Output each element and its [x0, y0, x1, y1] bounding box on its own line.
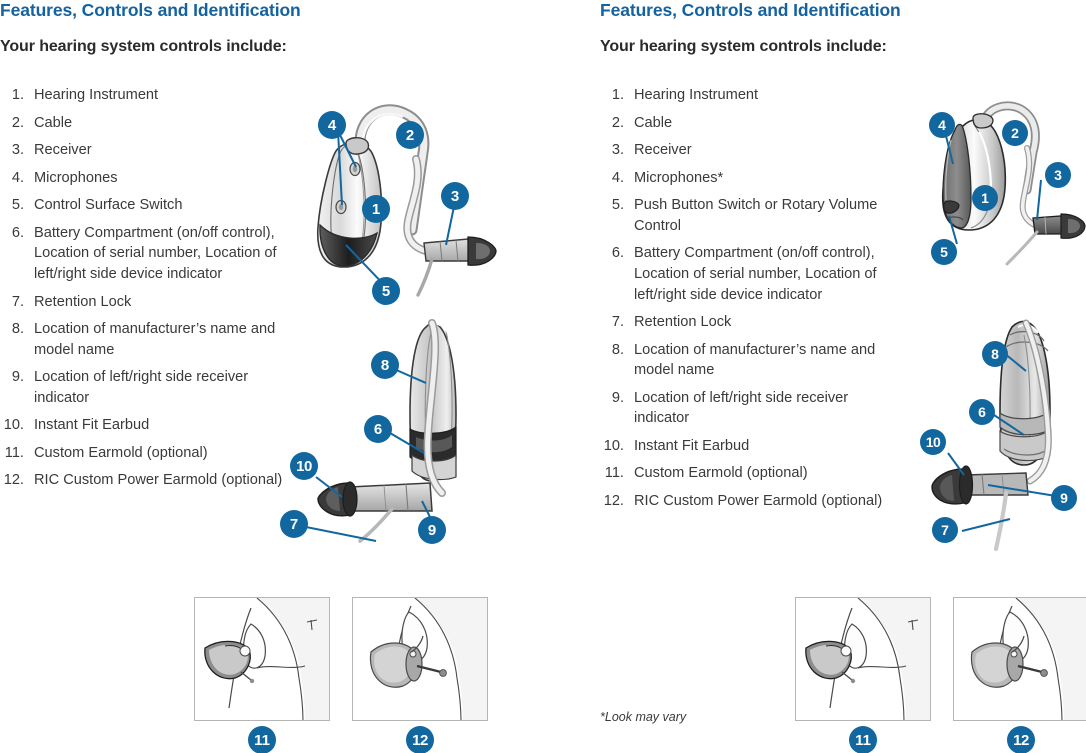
callout-badge-7[interactable]: 7	[280, 510, 308, 538]
list-item: 2.Cable	[0, 113, 290, 134]
callout-leader-lines	[280, 305, 530, 555]
list-item-number: 3.	[600, 140, 624, 161]
callout-badge-3[interactable]: 3	[1045, 162, 1071, 188]
list-item-number: 2.	[0, 113, 24, 134]
subtitle-right: Your hearing system controls include:	[600, 38, 887, 56]
callout-badge-4[interactable]: 4	[929, 112, 955, 138]
list-item: 11.Custom Earmold (optional)	[600, 463, 886, 484]
list-item-label: Hearing Instrument	[34, 87, 158, 103]
list-item-number: 1.	[0, 85, 24, 106]
list-item: 7.Retention Lock	[600, 312, 886, 333]
figure-bte-hearing-aid-right: 4 2 1 3 5	[915, 98, 1086, 270]
list-item: 9.Location of left/right side receiver i…	[600, 388, 886, 429]
callout-badge-7[interactable]: 7	[932, 517, 958, 543]
right-column: Features, Controls and Identification Yo…	[600, 0, 1086, 753]
list-item: 9.Location of left/right side receiver i…	[0, 367, 290, 408]
list-item-number: 3.	[0, 140, 24, 161]
list-item-number: 5.	[600, 195, 624, 216]
list-item-number: 5.	[0, 195, 24, 216]
list-item-label: Receiver	[634, 142, 692, 158]
list-item-label: Location of left/right side receiver ind…	[634, 390, 848, 427]
list-item-number: 9.	[600, 388, 624, 409]
list-item-label: Retention Lock	[634, 314, 731, 330]
list-item-label: Retention Lock	[34, 294, 131, 310]
list-item-label: Cable	[34, 115, 72, 131]
list-item: 3.Receiver	[0, 140, 290, 161]
list-item: 10.Instant Fit Earbud	[600, 436, 886, 457]
ear-with-power-earmold-illustration	[353, 598, 488, 721]
list-item-number: 11.	[600, 463, 624, 484]
list-item-number: 12.	[600, 491, 624, 512]
list-item-number: 11.	[0, 443, 24, 464]
callout-badge-1[interactable]: 1	[362, 195, 390, 223]
list-item-number: 2.	[600, 113, 624, 134]
list-item-label: RIC Custom Power Earmold (optional)	[634, 493, 882, 509]
photo-badge-11-left[interactable]: 11	[248, 726, 276, 753]
figure-ric-hearing-aid-left: 4 2 1 3 5	[300, 95, 543, 310]
list-item-number: 12.	[0, 470, 24, 491]
list-item-number: 8.	[0, 319, 24, 340]
list-item-label: Location of manufacturer’s name and mode…	[634, 342, 875, 379]
list-item: 4.Microphones*	[600, 168, 886, 189]
list-item-label: Hearing Instrument	[634, 87, 758, 103]
list-item-number: 8.	[600, 340, 624, 361]
page-title-right: Features, Controls and Identification	[600, 0, 901, 21]
list-item-number: 6.	[600, 243, 624, 264]
list-item-label: Microphones	[34, 170, 118, 186]
photo-custom-earmold-right	[795, 597, 931, 721]
list-item-label: Instant Fit Earbud	[34, 417, 149, 433]
callout-badge-2[interactable]: 2	[1002, 120, 1028, 146]
list-item-number: 7.	[600, 312, 624, 333]
list-item-number: 4.	[600, 168, 624, 189]
list-item: 7.Retention Lock	[0, 292, 290, 313]
photo-badge-12-right[interactable]: 12	[1007, 726, 1035, 753]
figure-side-view-earbud-left: 8 6 10 7 9	[280, 305, 530, 555]
list-item-number: 10.	[600, 436, 624, 457]
list-item-number: 9.	[0, 367, 24, 388]
features-list-right: 1.Hearing Instrument 2.Cable 3.Receiver …	[600, 85, 886, 519]
ear-with-custom-earmold-illustration	[796, 598, 931, 721]
list-item-label: Battery Compartment (on/off control), Lo…	[634, 245, 877, 302]
list-item-label: Instant Fit Earbud	[634, 438, 749, 454]
ear-with-custom-earmold-illustration	[195, 598, 330, 721]
list-item: 1.Hearing Instrument	[600, 85, 886, 106]
left-column: Features, Controls and Identification Yo…	[0, 0, 543, 753]
callout-badge-8[interactable]: 8	[982, 341, 1008, 367]
callout-badge-2[interactable]: 2	[396, 121, 424, 149]
callout-badge-5[interactable]: 5	[372, 277, 400, 305]
list-item: 8.Location of manufacturer’s name and mo…	[0, 319, 290, 360]
list-item-label: Cable	[634, 115, 672, 131]
photo-badge-12-left[interactable]: 12	[406, 726, 434, 753]
ear-with-power-earmold-illustration	[954, 598, 1086, 721]
list-item-label: RIC Custom Power Earmold (optional)	[34, 472, 282, 488]
list-item: 6.Battery Compartment (on/off control), …	[0, 223, 290, 285]
list-item: 1.Hearing Instrument	[0, 85, 290, 106]
list-item-number: 4.	[0, 168, 24, 189]
list-item-label: Location of manufacturer’s name and mode…	[34, 321, 275, 358]
list-item-number: 1.	[600, 85, 624, 106]
page-title-left: Features, Controls and Identification	[0, 0, 301, 21]
list-item: 5.Control Surface Switch	[0, 195, 290, 216]
list-item: 12.RIC Custom Power Earmold (optional)	[600, 491, 886, 512]
callout-badge-6[interactable]: 6	[364, 415, 392, 443]
callout-badge-9[interactable]: 9	[1051, 485, 1077, 511]
photo-badge-11-right[interactable]: 11	[849, 726, 877, 753]
figure-side-view-earbud-right: 8 6 10 9 7	[900, 305, 1086, 550]
list-item-number: 7.	[0, 292, 24, 313]
list-item: 10.Instant Fit Earbud	[0, 415, 290, 436]
list-item-label: Battery Compartment (on/off control), Lo…	[34, 225, 277, 282]
callout-badge-5[interactable]: 5	[931, 239, 957, 265]
list-item-number: 6.	[0, 223, 24, 244]
list-item: 4.Microphones	[0, 168, 290, 189]
photo-ric-power-earmold-right	[953, 597, 1086, 721]
list-item: 12.RIC Custom Power Earmold (optional)	[0, 470, 290, 491]
callout-badge-4[interactable]: 4	[318, 111, 346, 139]
callout-badge-6[interactable]: 6	[969, 399, 995, 425]
list-item: 6.Battery Compartment (on/off control), …	[600, 243, 886, 305]
page-root: Features, Controls and Identification Yo…	[0, 0, 1086, 753]
callout-badge-10[interactable]: 10	[290, 452, 318, 480]
callout-badge-9[interactable]: 9	[418, 516, 446, 544]
list-item: 11.Custom Earmold (optional)	[0, 443, 290, 464]
list-item: 8.Location of manufacturer’s name and mo…	[600, 340, 886, 381]
list-item-label: Push Button Switch or Rotary Volume Cont…	[634, 197, 877, 234]
list-item-label: Location of left/right side receiver ind…	[34, 369, 248, 406]
photo-ric-power-earmold-left	[352, 597, 488, 721]
features-list-left: 1.Hearing Instrument 2.Cable 3.Receiver …	[0, 85, 290, 498]
callout-badge-3[interactable]: 3	[441, 182, 469, 210]
callout-badge-1[interactable]: 1	[972, 185, 998, 211]
list-item-label: Microphones*	[634, 170, 723, 186]
subtitle-left: Your hearing system controls include:	[0, 38, 287, 56]
list-item-number: 10.	[0, 415, 24, 436]
list-item-label: Receiver	[34, 142, 92, 158]
list-item-label: Custom Earmold (optional)	[634, 465, 808, 481]
callout-badge-8[interactable]: 8	[371, 351, 399, 379]
list-item: 2.Cable	[600, 113, 886, 134]
callout-badge-10[interactable]: 10	[920, 429, 946, 455]
footnote-look-may-vary: *Look may vary	[600, 710, 686, 724]
list-item: 5.Push Button Switch or Rotary Volume Co…	[600, 195, 886, 236]
photo-custom-earmold-left	[194, 597, 330, 721]
list-item-label: Control Surface Switch	[34, 197, 182, 213]
list-item-label: Custom Earmold (optional)	[34, 445, 208, 461]
list-item: 3.Receiver	[600, 140, 886, 161]
